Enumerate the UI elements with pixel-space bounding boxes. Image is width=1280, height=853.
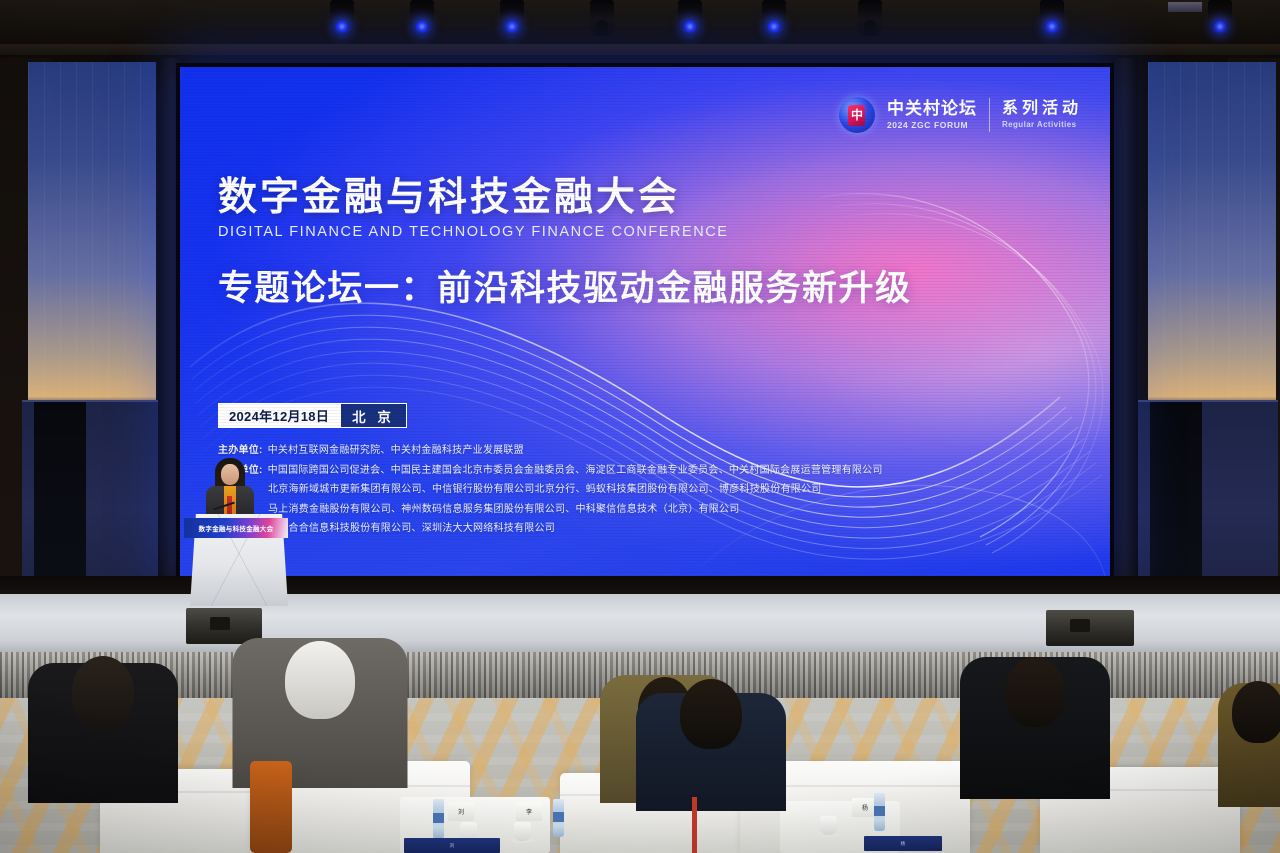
organizer-names: 中国国际跨国公司促进会、中国民主建国会北京市委员会金融委员会、海淀区工商联金融专… xyxy=(268,465,883,476)
water-bottle xyxy=(433,799,444,839)
organizer-names: 北京海新域城市更新集团有限公司、中信银行股份有限公司北京分行、蚂蚁科技集团股份有… xyxy=(268,484,822,495)
person-head xyxy=(680,679,742,749)
organizer-names: 马上消费金融股份有限公司、神州数码信息服务集团股份有限公司、中科聚信信息技术（北… xyxy=(268,504,740,515)
person-head-white-hair xyxy=(285,641,355,719)
wall-light-panel-right xyxy=(1148,62,1276,407)
stage-light-fixture-icon xyxy=(1208,0,1232,36)
forum-session-subtitle: 专题论坛一：前沿科技驱动金融服务新升级 xyxy=(218,260,912,311)
water-bottle xyxy=(553,799,564,837)
table-name-plate: 刘 xyxy=(404,838,500,853)
organizer-list: 主办单位:中关村互联网金融研究院、中关村金融科技产业发展联盟支持单位:中国国际跨… xyxy=(218,441,1038,539)
person-head xyxy=(72,656,134,728)
series-label-en: Regular Activities xyxy=(1002,120,1082,129)
podium-banner-text: 数字金融与科技金融大会 xyxy=(199,523,274,533)
stage-light-fixture-icon xyxy=(500,0,524,36)
person-lanyard xyxy=(692,797,697,853)
name-card: 李 xyxy=(516,802,542,821)
person-head xyxy=(1005,657,1065,727)
organizer-line: 主办单位:中关村互联网金融研究院、中关村金融科技产业发展联盟 xyxy=(218,441,1038,461)
wall-light-panel-left xyxy=(28,62,156,407)
stage-light-fixture-icon xyxy=(330,0,354,36)
audience-member xyxy=(232,638,407,853)
brand-name-en: 2024 ZGC FORUM xyxy=(887,120,977,130)
wall-column-right xyxy=(1112,58,1138,648)
stage-light-fixture-icon xyxy=(762,0,786,36)
led-stage-screen: 中 中关村论坛 2024 ZGC FORUM 系列活动 Regular Acti… xyxy=(180,67,1110,576)
conference-title-cn: 数字金融与科技金融大会 xyxy=(218,177,912,218)
podium-banner: 数字金融与科技金融大会 xyxy=(184,518,288,538)
speaker-head xyxy=(221,464,239,485)
name-card-text: 刘 xyxy=(458,807,464,816)
audience-member xyxy=(1218,683,1280,853)
brand-name-cn: 中关村论坛 xyxy=(887,100,977,118)
organizer-line: 支持单位:中国国际跨国公司促进会、中国民主建国会北京市委员会金融委员会、海淀区工… xyxy=(218,461,1038,481)
screen-title-block: 数字金融与科技金融大会 DIGITAL FINANCE AND TECHNOLO… xyxy=(218,177,912,311)
water-bottle xyxy=(874,793,885,831)
zgc-forum-badge-icon: 中 xyxy=(839,97,875,133)
stage-light-fixture-icon xyxy=(1040,0,1064,36)
series-text-group: 系列活动 Regular Activities xyxy=(1002,101,1082,130)
tea-cup xyxy=(820,816,837,835)
ceiling-vent xyxy=(1168,2,1202,12)
stage-light-fixture-icon xyxy=(410,0,434,36)
organizer-line: 上海合合信息科技股份有限公司、深圳法大大网络科技有限公司 xyxy=(218,519,1038,539)
stage-monitor-speaker-right xyxy=(1046,610,1134,646)
forum-logo-lockup: 中 中关村论坛 2024 ZGC FORUM 系列活动 Regular Acti… xyxy=(839,97,1082,133)
date-location-badge: 2024年12月18日 北 京 xyxy=(218,403,407,428)
person-orange-scarf xyxy=(250,761,292,853)
organizer-names: 上海合合信息科技股份有限公司、深圳法大大网络科技有限公司 xyxy=(268,523,555,534)
name-card-text: 李 xyxy=(526,807,532,816)
table-name-plate-text: 杨 xyxy=(901,841,906,847)
table-name-plate-text: 刘 xyxy=(450,843,455,849)
event-date: 2024年12月18日 xyxy=(218,403,340,428)
audience-member xyxy=(960,657,1110,853)
series-label-cn: 系列活动 xyxy=(1002,101,1082,118)
brand-text-group: 中关村论坛 2024 ZGC FORUM xyxy=(887,100,977,130)
name-card: 刘 xyxy=(448,802,474,821)
organizer-line: 马上消费金融股份有限公司、神州数码信息服务集团股份有限公司、中科聚信信息技术（北… xyxy=(218,500,1038,520)
table-name-plate: 杨 xyxy=(864,836,942,851)
tea-cup xyxy=(514,822,531,841)
stage-light-fixture-icon xyxy=(678,0,702,36)
organizer-line: 北京海新域城市更新集团有限公司、中信银行股份有限公司北京分行、蚂蚁科技集团股份有… xyxy=(218,480,1038,500)
conference-title-en: DIGITAL FINANCE AND TECHNOLOGY FINANCE C… xyxy=(218,224,912,240)
stage-light-fixture-icon xyxy=(858,0,882,36)
audience-member xyxy=(636,693,786,853)
event-city: 北 京 xyxy=(340,403,407,428)
forum-emblem-icon: 中 xyxy=(848,105,865,126)
logo-divider xyxy=(989,98,990,132)
person-head xyxy=(1232,681,1280,743)
organizer-label: 主办单位: xyxy=(218,445,263,456)
organizer-names: 中关村互联网金融研究院、中关村金融科技产业发展联盟 xyxy=(268,445,524,456)
conference-hall-scene: 中 中关村论坛 2024 ZGC FORUM 系列活动 Regular Acti… xyxy=(0,0,1280,853)
audience-member xyxy=(28,663,178,853)
name-card-text: 杨 xyxy=(862,803,868,812)
stage-light-fixture-icon xyxy=(590,0,614,36)
